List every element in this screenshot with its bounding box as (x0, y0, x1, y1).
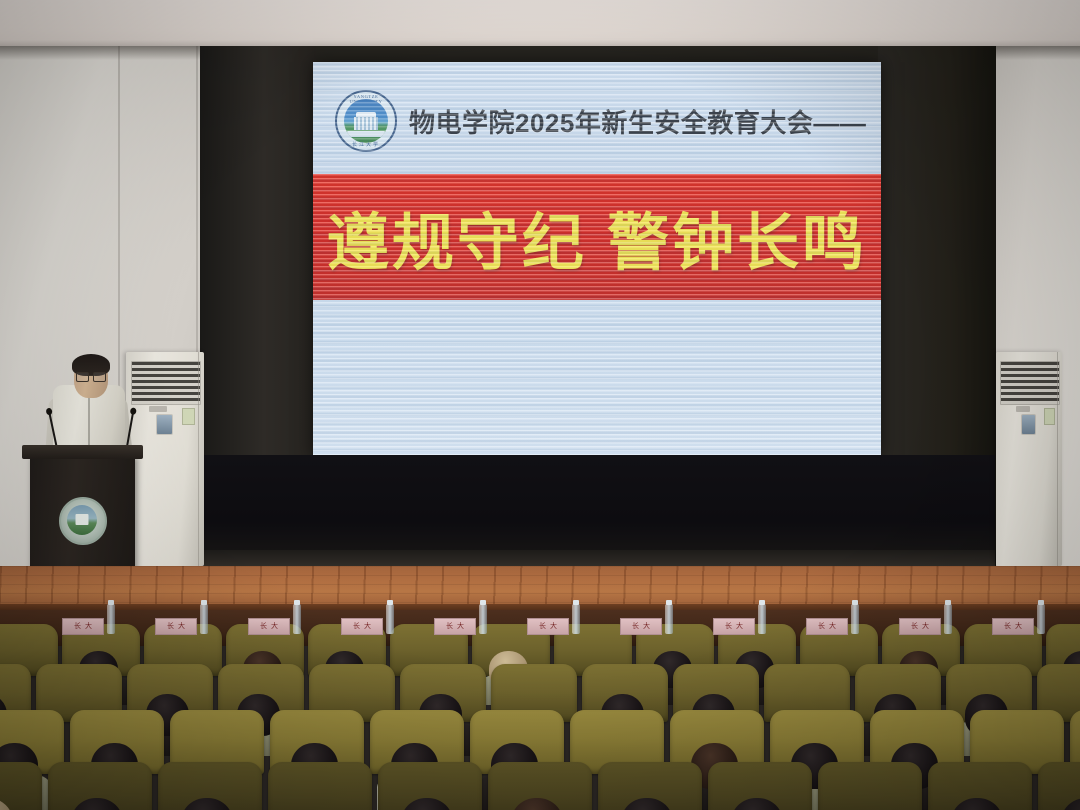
placard-char-right: 大 (271, 623, 278, 630)
slide-main-title: 遵规守纪 警钟长鸣 (327, 192, 867, 282)
placard-char-left: 长 (911, 623, 918, 630)
logo-base-shape (347, 131, 385, 137)
bottle-cap (480, 600, 486, 605)
bottle-cap (852, 600, 858, 605)
slide-subtitle: 物电学院2025年新生安全教育大会—— (409, 103, 866, 140)
podium-university-seal-icon (59, 497, 107, 545)
logo-text-bottom: 长江大学 (337, 141, 395, 148)
bottle-cap (108, 600, 114, 605)
podium-seal-inner (67, 505, 97, 535)
placard-char-left: 长 (74, 623, 81, 630)
placard-char-right: 大 (85, 623, 92, 630)
seat-placard: 长大 (527, 618, 569, 635)
seat-placard: 长大 (713, 618, 755, 635)
seat-placard: 长大 (248, 618, 290, 635)
bottle-cap (666, 600, 672, 605)
placard-char-left: 长 (818, 623, 825, 630)
bottle-cap (1038, 600, 1044, 605)
ac-display-panel (156, 414, 174, 435)
glasses-lens-left (76, 372, 89, 382)
air-conditioner-left (126, 352, 204, 566)
seat-placard: 长大 (992, 618, 1034, 635)
auditorium-seat (0, 762, 42, 810)
ac-grille-icon (1000, 361, 1060, 406)
bottle-cap (387, 600, 393, 605)
placard-char-right: 大 (643, 623, 650, 630)
water-bottle (572, 604, 580, 634)
water-bottle (758, 604, 766, 634)
water-bottle (200, 604, 208, 634)
placard-char-left: 长 (260, 623, 267, 630)
ac-display-panel (1021, 414, 1036, 435)
slide-title-banner: 遵规守纪 警钟长鸣 (313, 174, 881, 300)
ac-brand-label (1016, 406, 1031, 412)
placard-char-left: 长 (446, 623, 453, 630)
placard-char-right: 大 (457, 623, 464, 630)
water-bottle (1037, 604, 1045, 634)
logo-pillars-shape (354, 117, 378, 130)
placard-char-right: 大 (1015, 623, 1022, 630)
water-bottle (944, 604, 952, 634)
auditorium-scene: YANGTZE UNIVERSITY 长江大学 物电学院2025年新生安全教育大… (0, 0, 1080, 810)
led-presentation-screen: YANGTZE UNIVERSITY 长江大学 物电学院2025年新生安全教育大… (313, 62, 881, 457)
seat-placard: 长大 (899, 618, 941, 635)
auditorium-seat (818, 762, 922, 810)
placard-char-right: 大 (364, 623, 371, 630)
auditorium-seat (268, 762, 372, 810)
seat-placard: 长大 (806, 618, 848, 635)
bottle-cap (294, 600, 300, 605)
placard-char-right: 大 (178, 623, 185, 630)
podium-top-surface (22, 445, 143, 459)
water-bottle (107, 604, 115, 634)
ac-energy-label (182, 408, 195, 425)
air-conditioner-right (996, 352, 1062, 566)
slide-header: YANGTZE UNIVERSITY 长江大学 物电学院2025年新生安全教育大… (313, 84, 881, 158)
placard-char-right: 大 (736, 623, 743, 630)
placard-char-left: 长 (725, 623, 732, 630)
ac-brand-label (149, 406, 166, 412)
bottle-cap (201, 600, 207, 605)
water-bottle (665, 604, 673, 634)
speaker-glasses-icon (76, 372, 106, 380)
placard-char-left: 长 (632, 623, 639, 630)
placard-char-right: 大 (922, 623, 929, 630)
ac-seam (198, 352, 199, 566)
ac-energy-label (1044, 408, 1055, 425)
placard-char-left: 长 (353, 623, 360, 630)
ac-seam (1057, 352, 1058, 566)
seat-placard: 长大 (155, 618, 197, 635)
logo-emblem (344, 99, 388, 143)
audience-seating (0, 612, 1080, 810)
stage-backdrop-lip (200, 550, 995, 566)
placard-char-right: 大 (550, 623, 557, 630)
water-bottle (293, 604, 301, 634)
placard-char-left: 长 (167, 623, 174, 630)
seat-placard: 长大 (434, 618, 476, 635)
seat-placard: 长大 (341, 618, 383, 635)
university-logo-icon: YANGTZE UNIVERSITY 长江大学 (335, 90, 397, 152)
placard-char-left: 长 (539, 623, 546, 630)
bottle-cap (759, 600, 765, 605)
seat-placard: 长大 (620, 618, 662, 635)
bottle-cap (573, 600, 579, 605)
podium-seal-building (75, 514, 88, 525)
water-bottle (851, 604, 859, 634)
bottle-cap (945, 600, 951, 605)
water-bottle (479, 604, 487, 634)
placard-char-left: 长 (1004, 623, 1011, 630)
seat-placard: 长大 (62, 618, 104, 635)
glasses-lens-right (93, 372, 106, 382)
placard-char-right: 大 (829, 623, 836, 630)
ac-grille-icon (131, 361, 202, 406)
water-bottle (386, 604, 394, 634)
